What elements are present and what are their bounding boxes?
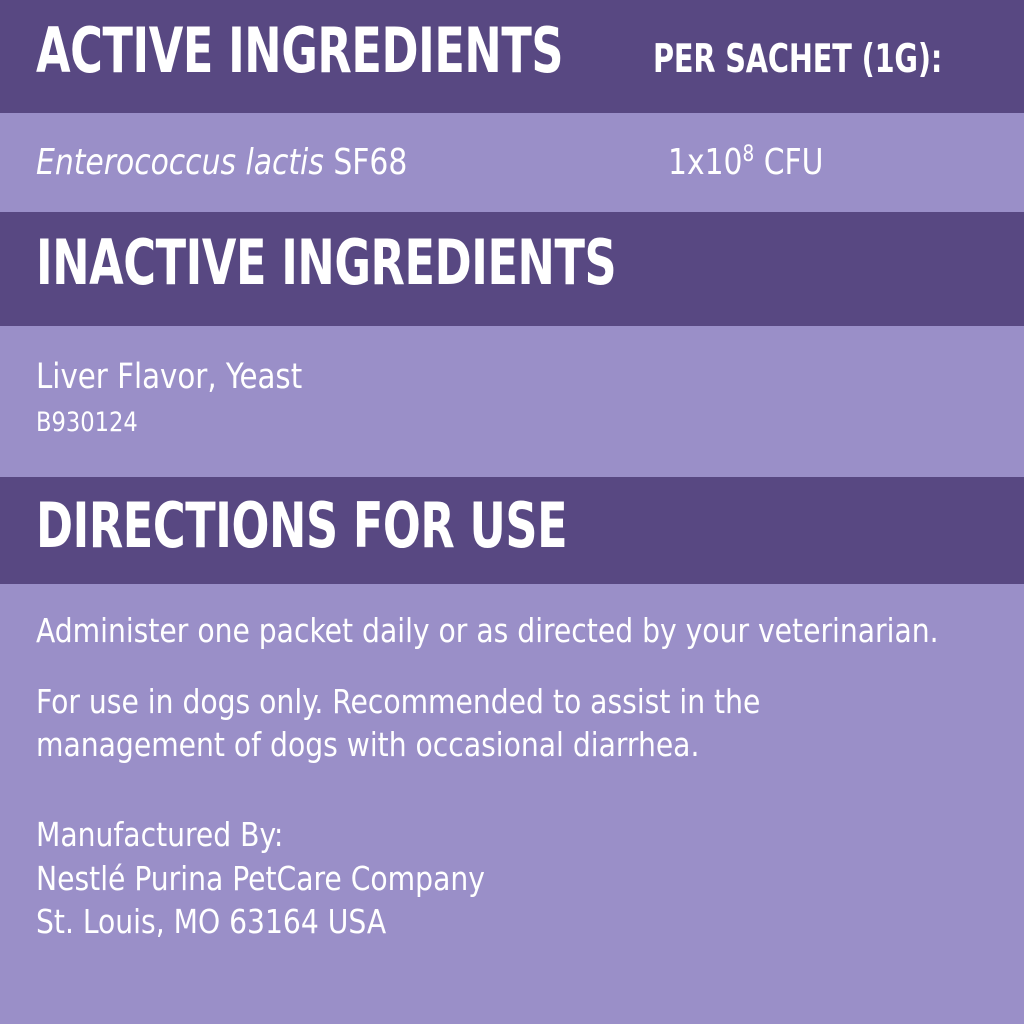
inactive-ingredients-body: Liver Flavor, Yeast B930124: [0, 326, 1024, 477]
species-name: Enterococcus lactis: [36, 142, 324, 183]
product-label-panel: ACTIVE INGREDIENTS PER SACHET (1G): Ente…: [0, 0, 1024, 1024]
active-ingredient-name: Enterococcus lactis SF68: [36, 143, 407, 183]
amount-unit: CFU: [764, 142, 824, 183]
active-ingredient-amount: 1x108 CFU: [668, 143, 823, 183]
amount-exponent: 8: [742, 141, 754, 167]
directions-body: Administer one packet daily or as direct…: [0, 584, 1024, 1024]
per-sachet-column-header: PER SACHET (1G):: [653, 40, 942, 79]
manufacturer-name: Nestlé Purina PetCare Company: [36, 857, 948, 901]
active-ingredient-row: Enterococcus lactis SF68 1x108 CFU: [0, 113, 1024, 212]
strain-name: SF68: [333, 142, 407, 183]
directions-paragraph-dosage: Administer one packet daily or as direct…: [36, 610, 948, 653]
inactive-ingredients-header-band: INACTIVE INGREDIENTS: [0, 212, 1024, 326]
inactive-ingredients-title: INACTIVE INGREDIENTS: [36, 234, 616, 293]
inactive-ingredients-list: Liver Flavor, Yeast: [36, 356, 929, 398]
active-ingredients-title: ACTIVE INGREDIENTS: [36, 22, 563, 81]
active-ingredients-header-band: ACTIVE INGREDIENTS PER SACHET (1G):: [0, 0, 1024, 113]
directions-for-use-title: DIRECTIONS FOR USE: [36, 497, 567, 556]
amount-base: 1x10: [668, 142, 742, 183]
manufactured-by-label: Manufactured By:: [36, 813, 948, 857]
directions-header-band: DIRECTIONS FOR USE: [0, 477, 1024, 584]
lot-code: B930124: [36, 406, 929, 440]
manufacturer-address: St. Louis, MO 63164 USA: [36, 900, 948, 944]
directions-paragraph-indication: For use in dogs only. Recommended to ass…: [36, 681, 796, 767]
